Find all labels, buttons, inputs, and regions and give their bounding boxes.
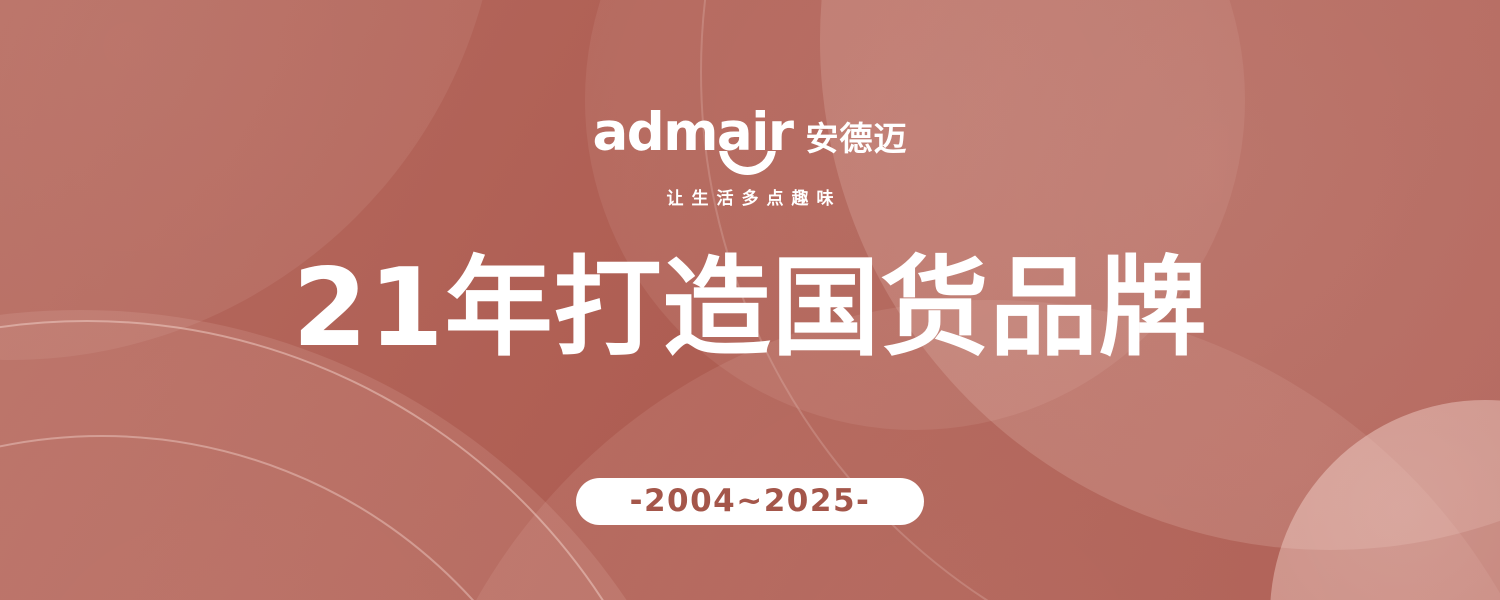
brand-tagline: 让生活多点趣味 xyxy=(659,191,842,208)
banner-content: admair 安德迈 让生活多点趣味 21年打造国货品牌 -2004~2025- xyxy=(0,0,1500,600)
logo-wordmark: admair xyxy=(593,106,793,159)
logo-chinese-name: 安德迈 xyxy=(806,122,908,159)
year-range-badge: -2004~2025- xyxy=(576,478,924,525)
brand-logo: admair 安德迈 xyxy=(593,103,908,159)
promo-banner: admair 安德迈 让生活多点趣味 21年打造国货品牌 -2004~2025- xyxy=(0,0,1500,600)
year-range-label: -2004~2025- xyxy=(630,486,871,517)
headline-title: 21年打造国货品牌 xyxy=(292,255,1207,363)
